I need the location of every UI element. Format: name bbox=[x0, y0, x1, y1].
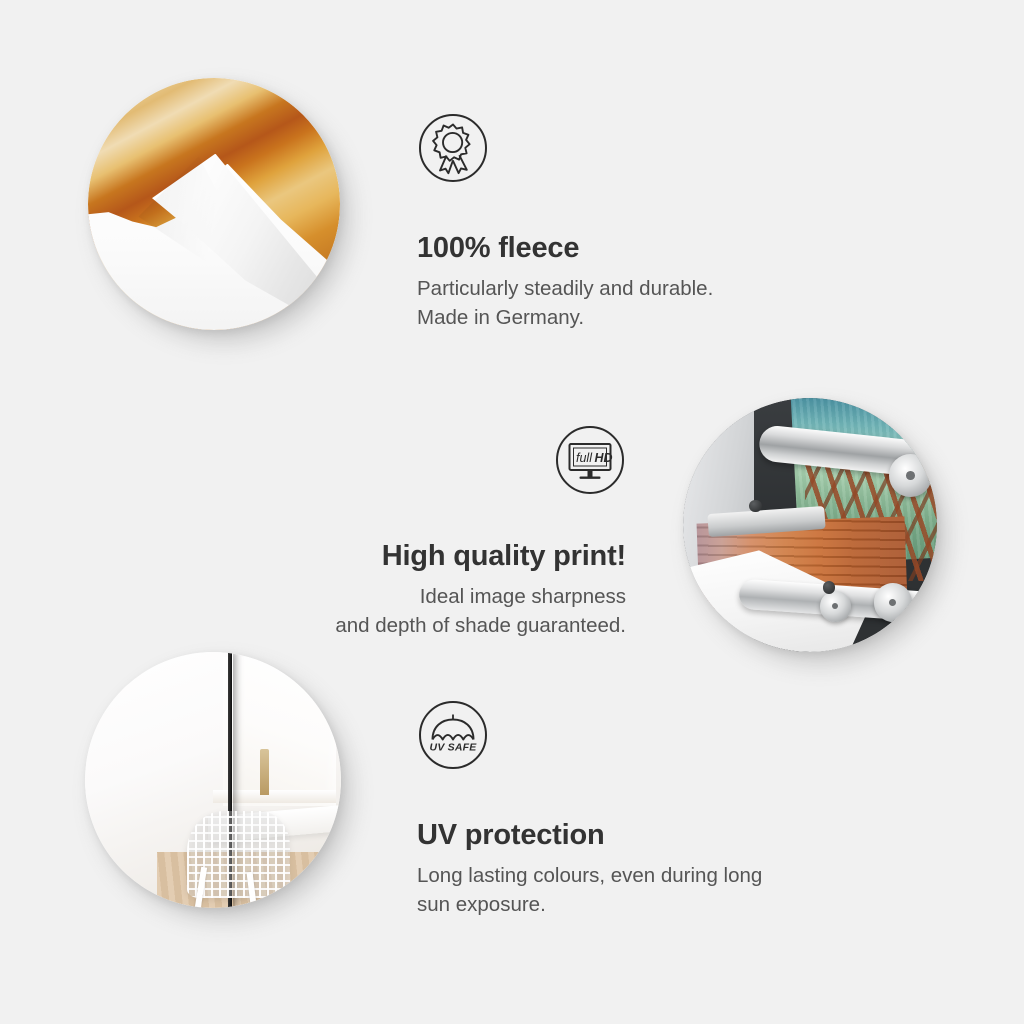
full-hd-label-light: full bbox=[576, 451, 593, 465]
press-wheel bbox=[889, 454, 932, 497]
printing-press-photo bbox=[683, 398, 937, 652]
feature-description: Ideal image sharpness and depth of shade… bbox=[258, 582, 626, 640]
press-wheel bbox=[820, 591, 850, 621]
mandala-wallpaper-interior-photo bbox=[85, 652, 341, 908]
feature-block-uv: UV SAFE UV protection Long lasting colou… bbox=[417, 699, 762, 919]
photo-clip bbox=[683, 398, 937, 652]
feature-block-fleece: 100% fleece Particularly steadily and du… bbox=[417, 112, 713, 332]
press-wheel bbox=[874, 583, 912, 621]
feature-block-print: full HD High quality print! Ideal image … bbox=[258, 424, 626, 640]
feature-description: Long lasting colours, even during long s… bbox=[417, 861, 762, 919]
candle-holder bbox=[260, 749, 269, 795]
award-rosette-icon bbox=[417, 112, 489, 184]
infographic-canvas: 100% fleece Particularly steadily and du… bbox=[0, 0, 1024, 1024]
window bbox=[223, 657, 336, 805]
feature-title: 100% fleece bbox=[417, 231, 713, 265]
icon-wrapper: full HD bbox=[258, 424, 626, 496]
full-hd-label-bold: HD bbox=[595, 451, 613, 465]
press-knob bbox=[823, 581, 836, 594]
icon-wrapper bbox=[417, 112, 713, 184]
photo-clip bbox=[88, 78, 340, 330]
press-knob bbox=[749, 500, 762, 513]
feature-description: Particularly steadily and durable. Made … bbox=[417, 274, 713, 332]
uv-safe-label: UV SAFE bbox=[430, 742, 478, 754]
photo-clip bbox=[85, 652, 341, 908]
feature-title: High quality print! bbox=[258, 539, 626, 573]
icon-wrapper: UV SAFE bbox=[417, 699, 762, 771]
feature-title: UV protection bbox=[417, 818, 762, 852]
wallpaper-peeling-corner-photo bbox=[88, 78, 340, 330]
full-hd-monitor-icon: full HD bbox=[554, 424, 626, 496]
uv-safe-umbrella-icon: UV SAFE bbox=[417, 699, 489, 771]
